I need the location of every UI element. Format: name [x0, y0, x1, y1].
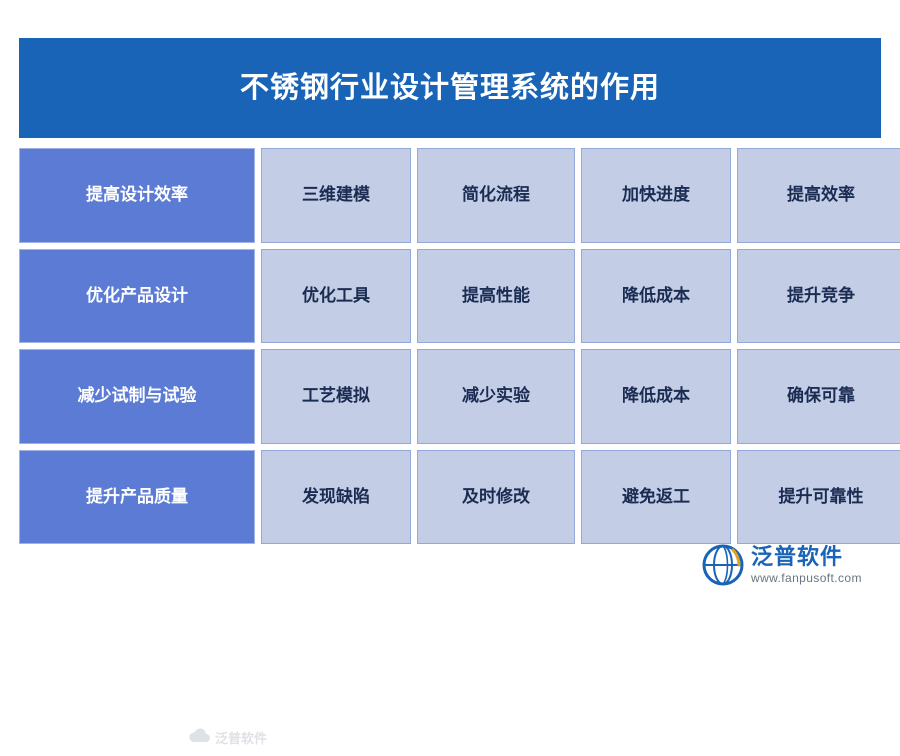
globe-logo-icon: [702, 544, 744, 586]
matrix-cell: 降低成本: [581, 349, 731, 444]
matrix-cell-label: 避免返工: [622, 487, 690, 507]
row-header-label: 减少试制与试验: [78, 386, 197, 406]
matrix-cell-label: 及时修改: [462, 487, 530, 507]
matrix-cell: 降低成本: [581, 249, 731, 344]
matrix-cell-label: 确保可靠: [787, 386, 855, 406]
cloud-icon: [188, 725, 212, 749]
matrix-cell-label: 提升可靠性: [779, 487, 864, 507]
matrix-cell: 加快进度: [581, 148, 731, 243]
matrix-cell: 提高性能: [417, 249, 575, 344]
diagram-canvas: 不锈钢行业设计管理系统的作用 提高设计效率 三维建模 简化流程 加快进度 提高效…: [0, 0, 900, 600]
matrix-cell: 发现缺陷: [261, 450, 411, 545]
matrix-cell-label: 降低成本: [622, 386, 690, 406]
matrix-cell: 简化流程: [417, 148, 575, 243]
logo-url: www.fanpusoft.com: [751, 572, 862, 584]
brand-logo: 泛普软件 www.fanpusoft.com: [702, 542, 882, 588]
page-title: 不锈钢行业设计管理系统的作用: [240, 74, 660, 103]
center-watermark: 泛普软件: [188, 718, 298, 756]
matrix-cell: 确保可靠: [737, 349, 900, 444]
matrix-cell-label: 优化工具: [302, 286, 370, 306]
matrix-cell-label: 发现缺陷: [302, 487, 370, 507]
row-header-label: 优化产品设计: [86, 286, 188, 306]
matrix-cell-label: 加快进度: [622, 185, 690, 205]
center-watermark-text: 泛普软件: [215, 728, 267, 747]
row-header-cell: 提升产品质量: [19, 450, 255, 545]
row-header-label: 提高设计效率: [86, 185, 188, 205]
matrix-cell: 提升竞争: [737, 249, 900, 344]
title-banner: 不锈钢行业设计管理系统的作用: [19, 38, 881, 138]
matrix-cell: 及时修改: [417, 450, 575, 545]
matrix-cell: 工艺模拟: [261, 349, 411, 444]
matrix-cell: 避免返工: [581, 450, 731, 545]
row-header-cell: 减少试制与试验 泛普软件: [19, 349, 255, 444]
matrix-cell-label: 简化流程: [462, 185, 530, 205]
matrix-cell-label: 工艺模拟: [302, 386, 370, 406]
row-header-cell: 优化产品设计: [19, 249, 255, 344]
logo-name: 泛普软件: [751, 546, 862, 568]
matrix-cell: 减少实验: [417, 349, 575, 444]
matrix-cell-label: 三维建模: [302, 185, 370, 205]
matrix-grid: 提高设计效率 三维建模 简化流程 加快进度 提高效率 优化产品设计 优化工具 提…: [19, 148, 881, 544]
matrix-cell-label: 提升竞争: [787, 286, 855, 306]
matrix-cell-label: 减少实验: [462, 386, 530, 406]
matrix-cell-label: 降低成本: [622, 286, 690, 306]
logo-text-block: 泛普软件 www.fanpusoft.com: [751, 546, 862, 584]
row-header-label: 提升产品质量: [86, 487, 188, 507]
matrix-cell: 优化工具: [261, 249, 411, 344]
matrix-cell: 三维建模: [261, 148, 411, 243]
row-header-cell: 提高设计效率: [19, 148, 255, 243]
matrix-cell-label: 提高性能: [462, 286, 530, 306]
matrix-cell: 提升可靠性: [737, 450, 900, 545]
matrix-cell: 提高效率: [737, 148, 900, 243]
matrix-cell-label: 提高效率: [787, 185, 855, 205]
